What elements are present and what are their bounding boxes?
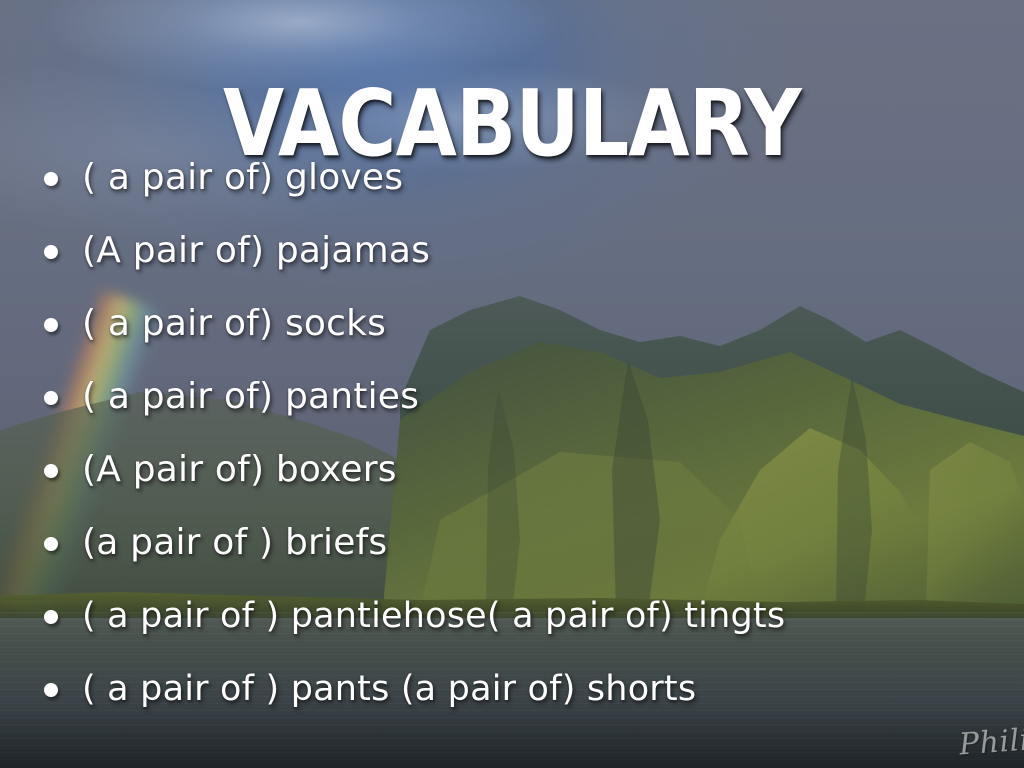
bullet-dot-icon: [44, 245, 58, 259]
bullet-dot-icon: [44, 683, 58, 697]
list-item-label: (A pair of) boxers: [82, 451, 397, 490]
list-item-label: ( a pair of ) pantiehose( a pair of) tin…: [82, 598, 785, 636]
bullet-dot-icon: [44, 610, 58, 624]
vocabulary-list: ( a pair of) gloves (A pair of) pajamas …: [0, 142, 1024, 726]
bullet-dot-icon: [44, 391, 58, 405]
slide-canvas: VACABULARY ( a pair of) gloves (A pair o…: [0, 0, 1024, 768]
slide-content: VACABULARY ( a pair of) gloves (A pair o…: [0, 0, 1024, 768]
list-item-label: ( a pair of ) pants (a pair of) shorts: [82, 671, 696, 709]
author-watermark: Phili: [958, 723, 1024, 763]
list-item: (A pair of) pajamas: [0, 215, 1024, 288]
list-item: ( a pair of) socks: [0, 288, 1024, 361]
list-item: (A pair of) boxers: [0, 434, 1024, 507]
bullet-dot-icon: [44, 172, 58, 186]
list-item: ( a pair of) panties: [0, 361, 1024, 434]
list-item: ( a pair of ) pantiehose( a pair of) tin…: [0, 580, 1024, 653]
list-item-label: ( a pair of) socks: [82, 305, 386, 344]
list-item-label: ( a pair of) gloves: [82, 159, 403, 198]
list-item-label: (a pair of ) briefs: [82, 524, 387, 563]
list-item: (a pair of ) briefs: [0, 507, 1024, 580]
bullet-dot-icon: [44, 318, 58, 332]
bullet-dot-icon: [44, 464, 58, 478]
bullet-dot-icon: [44, 537, 58, 551]
list-item-label: (A pair of) pajamas: [82, 232, 430, 271]
list-item-label: ( a pair of) panties: [82, 378, 419, 417]
list-item: ( a pair of ) pants (a pair of) shorts: [0, 653, 1024, 726]
list-item: ( a pair of) gloves: [0, 142, 1024, 215]
